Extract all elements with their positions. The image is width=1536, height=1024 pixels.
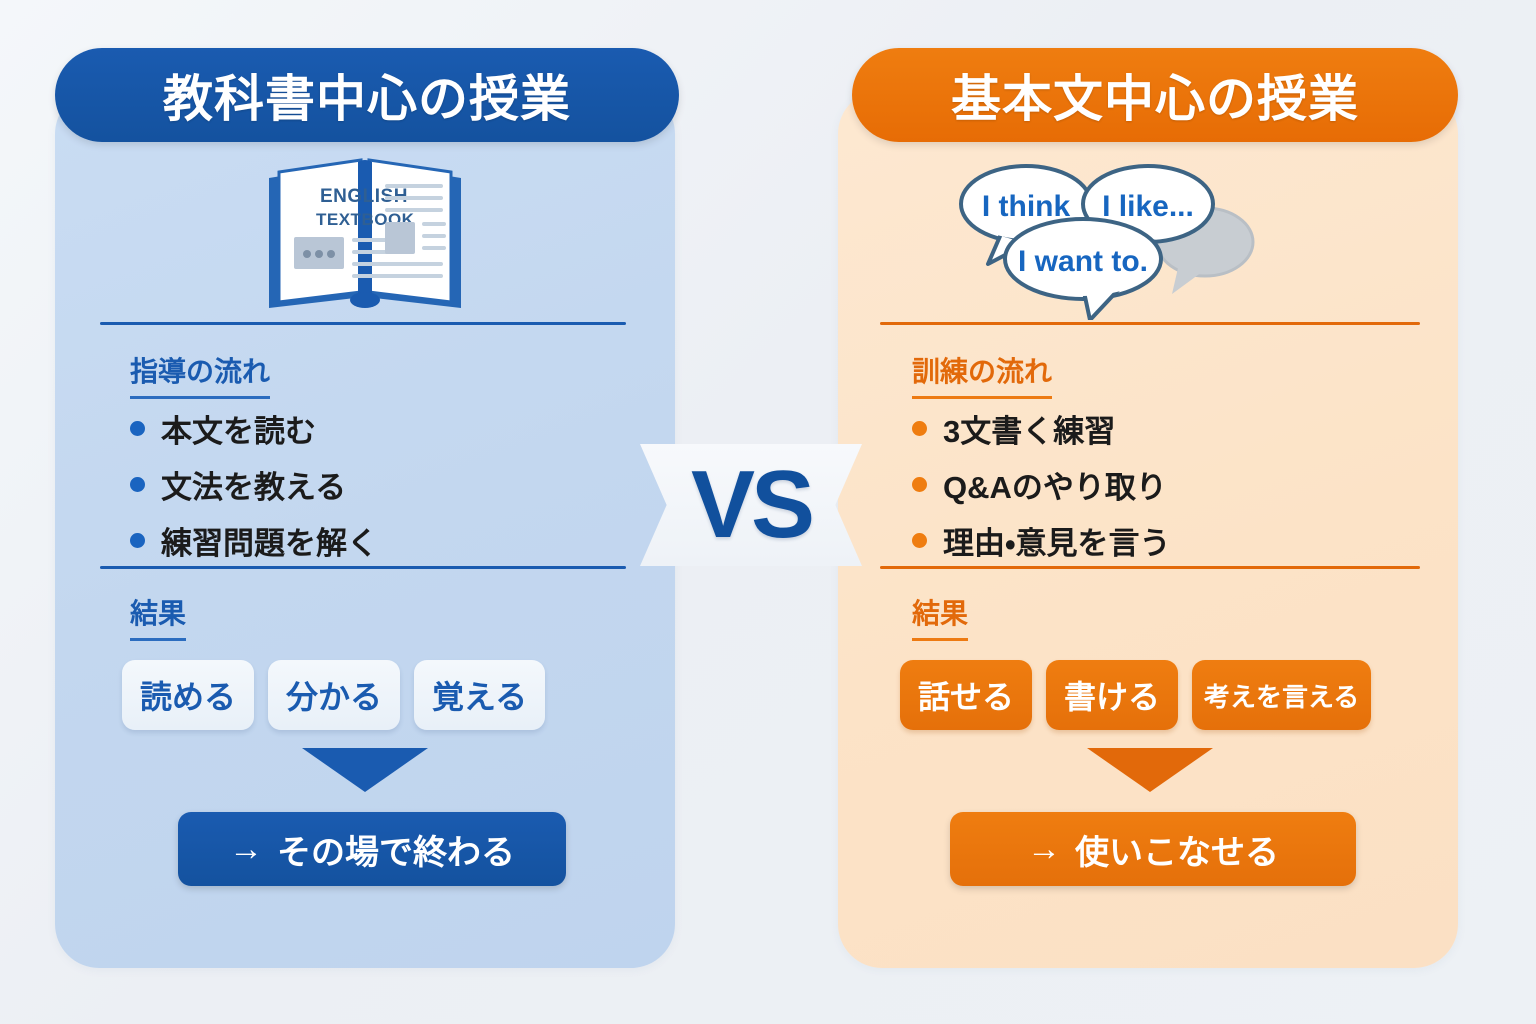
arrow-right-icon: → xyxy=(1027,830,1061,869)
left-flow-label: 指導の流れ xyxy=(130,350,270,399)
list-item-label: 練習問題を解く xyxy=(161,518,378,563)
result-chip[interactable]: 読める xyxy=(122,660,254,730)
vs-badge: VS xyxy=(640,444,862,566)
left-flow-list: 本文を読む 文法を教える 練習問題を解く xyxy=(130,400,378,568)
right-down-arrow-icon xyxy=(1087,748,1213,792)
left-conclusion-label: その場で終わる xyxy=(277,825,515,874)
svg-text:I think: I think xyxy=(982,190,1071,223)
list-item: 文法を教える xyxy=(130,456,378,512)
panel-right-header: 基本文中心の授業 xyxy=(852,48,1458,142)
list-item: 理由・意見を言う xyxy=(912,512,1171,568)
list-item: Q&Aのやり取り xyxy=(912,456,1171,512)
open-book-illustration: ENGLISH TEXTBOOK xyxy=(55,142,675,320)
right-flow-list: 3文書く練習 Q&Aのやり取り 理由・意見を言う xyxy=(912,400,1171,568)
right-flow-label: 訓練の流れ xyxy=(912,350,1052,399)
right-result-chips: 話せる 書ける 考えを言える xyxy=(900,660,1371,730)
list-item-label: 理由・意見を言う xyxy=(943,518,1171,563)
right-result-label: 結果 xyxy=(912,592,968,641)
left-result-chips: 読める 分かる 覚える xyxy=(122,660,545,730)
svg-text:I want to.: I want to. xyxy=(1018,245,1148,278)
vs-label: VS xyxy=(691,457,811,553)
left-result-label: 結果 xyxy=(130,592,186,641)
bullet-dot-icon xyxy=(912,477,927,492)
list-item: 練習問題を解く xyxy=(130,512,378,568)
list-item: 本文を読む xyxy=(130,400,378,456)
bullet-dot-icon xyxy=(130,533,145,548)
bullet-dot-icon xyxy=(130,421,145,436)
panel-right-title: 基本文中心の授業 xyxy=(951,59,1359,131)
list-item-label: 本文を読む xyxy=(161,406,316,451)
arrow-right-icon: → xyxy=(229,830,263,869)
panel-left-header: 教科書中心の授業 xyxy=(55,48,679,142)
list-item-label: 3文書く練習 xyxy=(943,406,1115,451)
result-chip[interactable]: 話せる xyxy=(900,660,1032,730)
left-conclusion-banner: → その場で終わる xyxy=(178,812,566,886)
speech-bubbles-icon: I think I like... I want to. xyxy=(838,142,1458,320)
right-divider-mid xyxy=(880,566,1420,569)
bullet-dot-icon xyxy=(130,477,145,492)
right-conclusion-banner: → 使いこなせる xyxy=(950,812,1356,886)
panel-left-title: 教科書中心の授業 xyxy=(163,59,571,131)
result-chip[interactable]: 分かる xyxy=(268,660,400,730)
result-chip[interactable]: 考えを言える xyxy=(1192,660,1371,730)
bullet-dot-icon xyxy=(912,533,927,548)
result-chip[interactable]: 書ける xyxy=(1046,660,1178,730)
left-divider-mid xyxy=(100,566,626,569)
list-item-label: 文法を教える xyxy=(161,462,346,507)
open-book-icon: ENGLISH TEXTBOOK xyxy=(55,142,675,320)
left-divider-top xyxy=(100,322,626,325)
result-chip[interactable]: 覚える xyxy=(414,660,545,730)
svg-text:I like...: I like... xyxy=(1102,190,1194,223)
right-divider-top xyxy=(880,322,1420,325)
bullet-dot-icon xyxy=(912,421,927,436)
right-conclusion-label: 使いこなせる xyxy=(1075,825,1279,874)
speech-bubbles-illustration: I think I like... I want to. xyxy=(838,142,1458,320)
list-item: 3文書く練習 xyxy=(912,400,1171,456)
list-item-label: Q&Aのやり取り xyxy=(943,462,1167,507)
left-down-arrow-icon xyxy=(302,748,428,792)
